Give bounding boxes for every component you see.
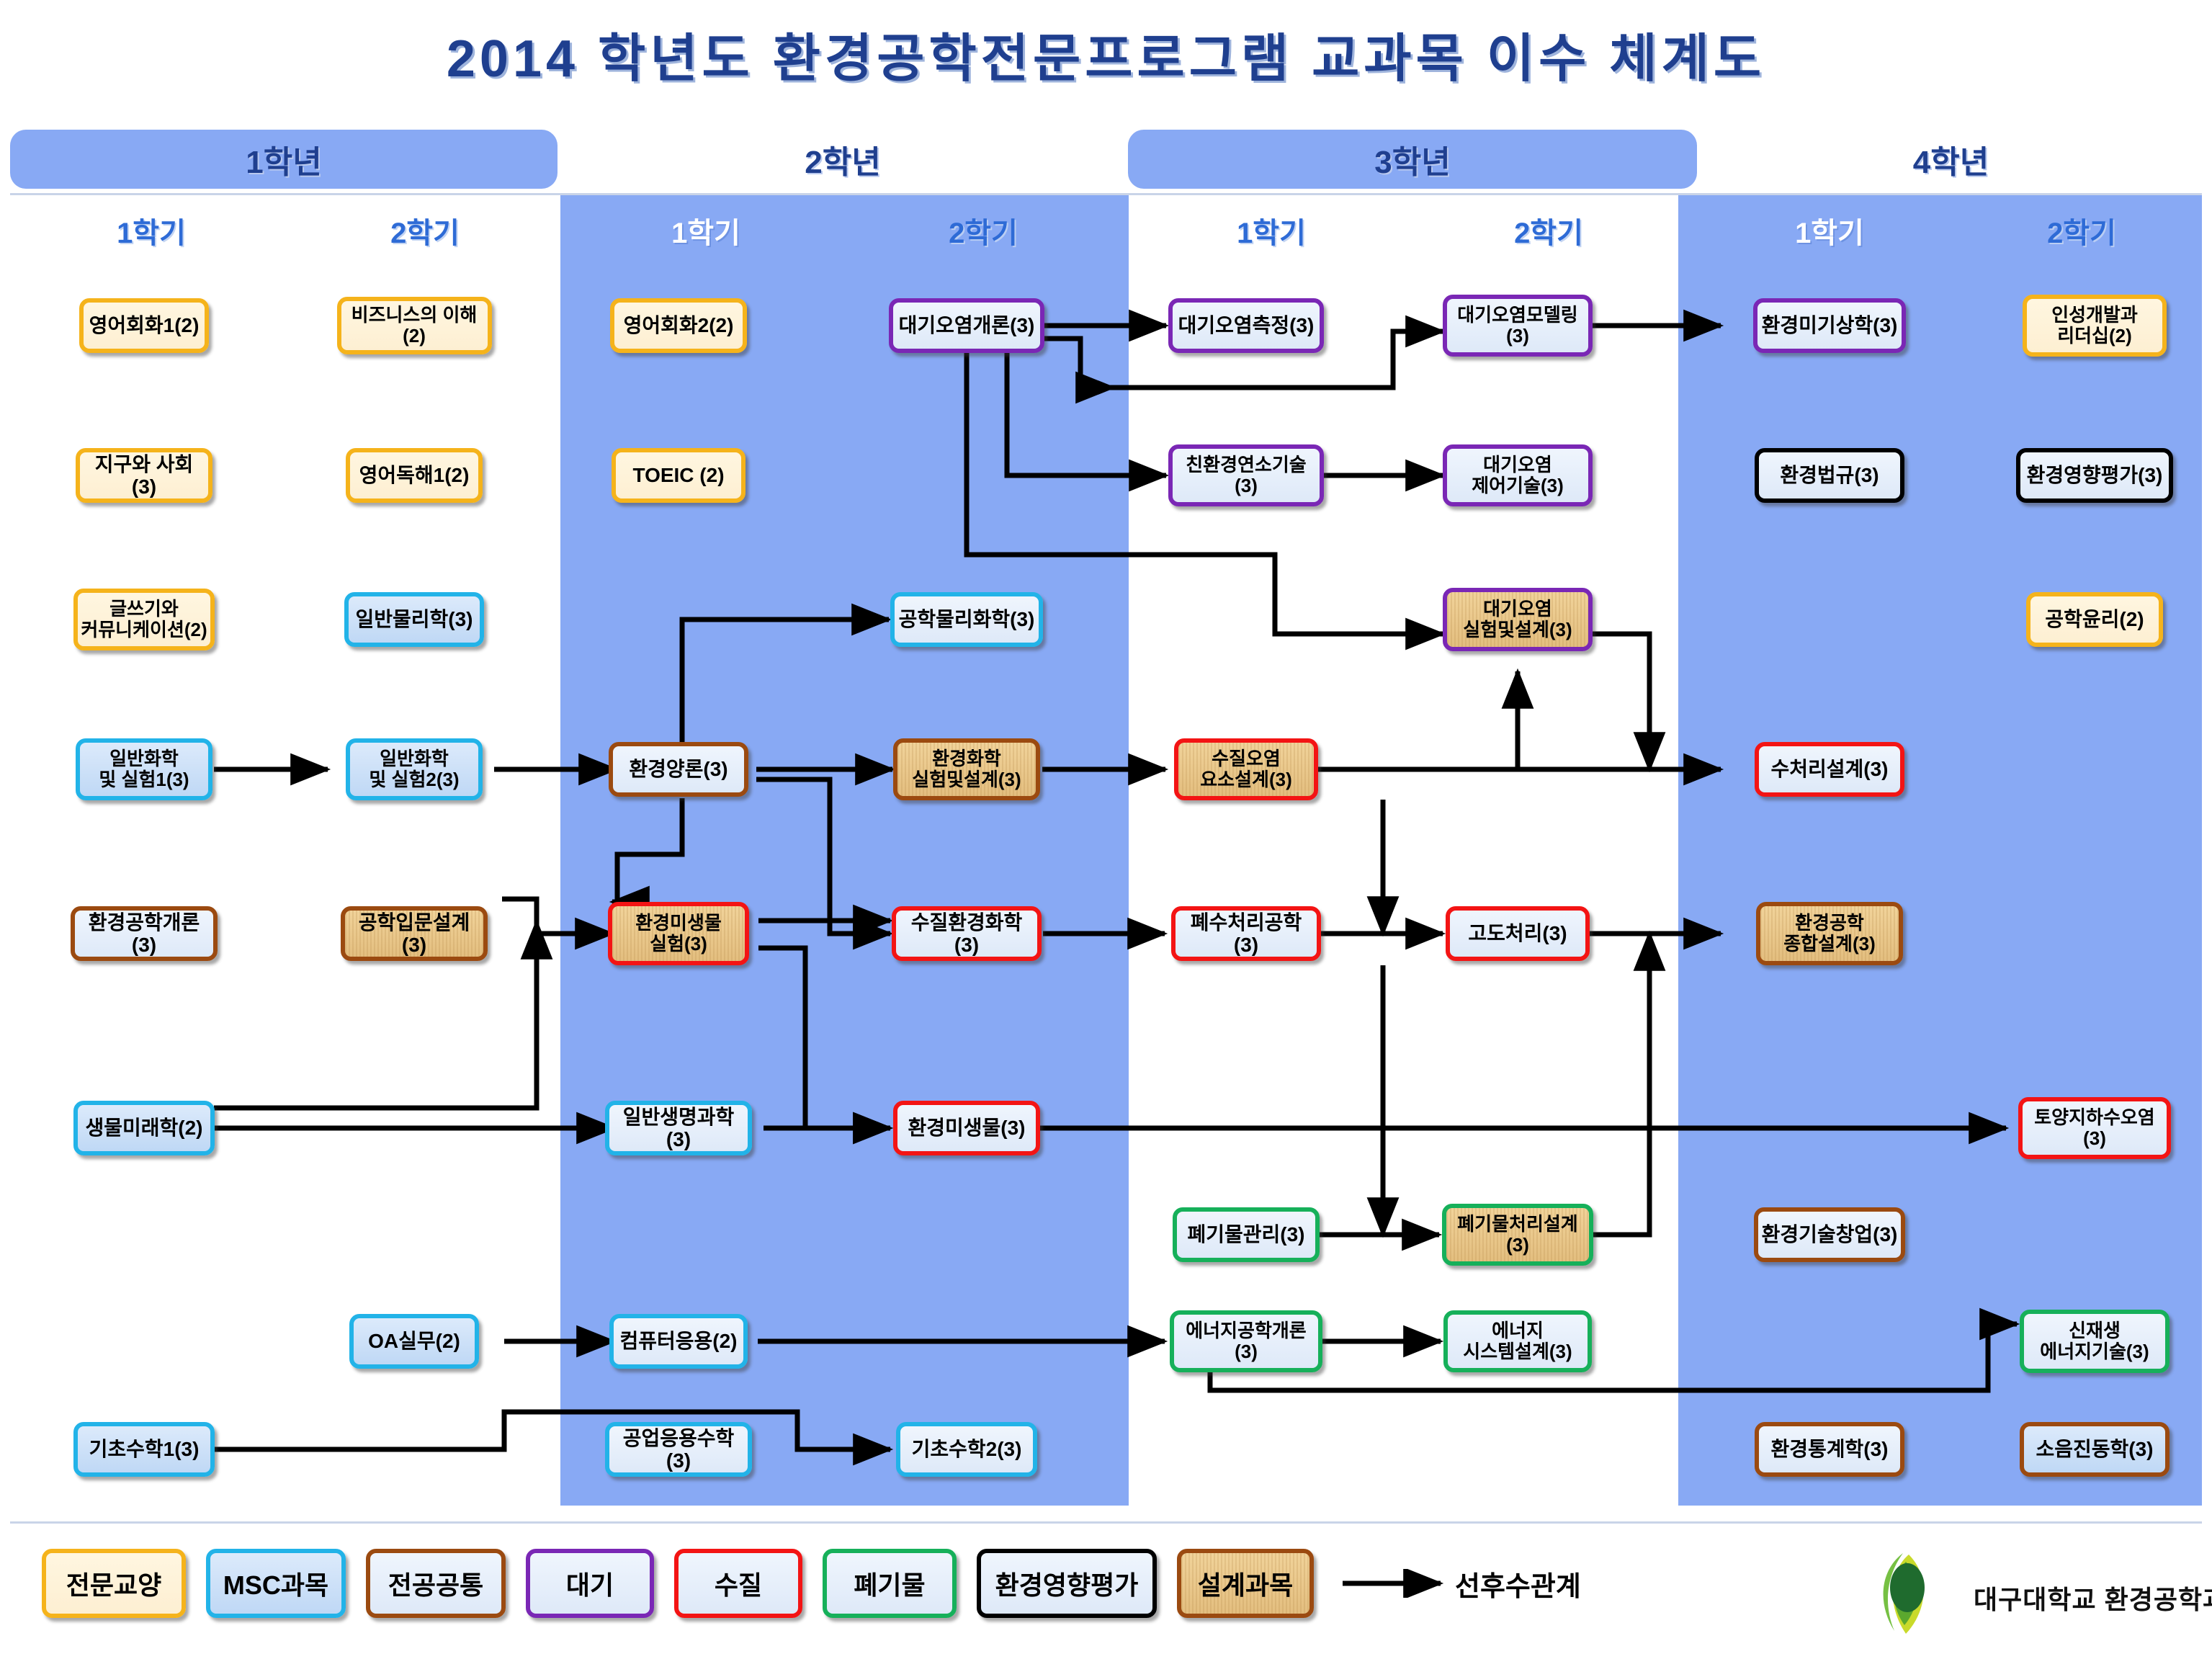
semester-label-4-2: 2학기 [1959, 209, 2204, 252]
course-node-envmicex[interactable]: 환경미생물 실험(3) [608, 902, 749, 965]
course-node-envquant[interactable]: 환경양론(3) [609, 742, 748, 797]
course-node-genchem2[interactable]: 일반화학 및 실험2(3) [346, 738, 483, 800]
course-node-engethic[interactable]: 공학윤리(2) [2026, 592, 2163, 647]
legend-item-7: 설계과목 [1177, 1549, 1314, 1618]
course-node-soilgw[interactable]: 토양지하수오염 (3) [2018, 1097, 2171, 1159]
course-node-airmodel[interactable]: 대기오염모델링 (3) [1443, 295, 1593, 357]
course-node-renew[interactable]: 신재생 에너지기술(3) [2020, 1310, 2170, 1373]
course-node-genbio[interactable]: 일반생명과학(3) [605, 1101, 752, 1155]
course-node-engread[interactable]: 영어독해1(2) [346, 448, 483, 503]
course-node-write[interactable]: 글쓰기와 커뮤니케이션(2) [73, 589, 215, 650]
semester-label-3-1: 1학기 [1134, 209, 1408, 252]
year-header-4: 4학년 [1700, 130, 2202, 189]
semester-label-3-2: 2학기 [1412, 209, 1685, 252]
legend-item-0: 전문교양 [42, 1549, 186, 1618]
course-node-wastewat[interactable]: 폐수처리공학(3) [1171, 906, 1321, 961]
course-node-airmeas[interactable]: 대기오염측정(3) [1168, 298, 1324, 353]
course-node-waterdes[interactable]: 수질오염 요소설계(3) [1174, 738, 1318, 800]
course-node-envchemd[interactable]: 환경화학 실험및설계(3) [893, 738, 1040, 800]
semester-label-4-1: 1학기 [1693, 209, 1966, 252]
course-node-envmicro[interactable]: 환경미생물(3) [893, 1101, 1040, 1155]
legend-item-1: MSC과목 [206, 1549, 346, 1618]
course-node-leader[interactable]: 인성개발과 리더십(2) [2023, 295, 2167, 357]
legend-item-2: 전공공통 [366, 1549, 506, 1618]
year2-panel [560, 194, 1129, 1506]
course-node-genphys[interactable]: 일반물리학(3) [344, 592, 484, 647]
course-node-capstone[interactable]: 환경공학 종합설계(3) [1756, 902, 1903, 965]
course-node-eng1[interactable]: 영어회화1(2) [79, 298, 209, 353]
course-node-noise[interactable]: 소음진동학(3) [2020, 1422, 2170, 1477]
legend-divider [10, 1521, 2202, 1524]
course-node-envintro[interactable]: 환경공학개론(3) [71, 906, 218, 961]
course-node-biofut[interactable]: 생물미래학(2) [73, 1101, 215, 1155]
legend-item-4: 수질 [674, 1549, 802, 1618]
course-node-airdesign[interactable]: 대기오염 실험및설계(3) [1443, 588, 1593, 651]
semester-label-2-2: 2학기 [846, 209, 1120, 252]
course-node-waterchm[interactable]: 수질환경화학(3) [892, 906, 1042, 961]
header-divider [10, 193, 2202, 195]
year-header-2: 2학년 [569, 130, 1116, 189]
year4-panel [1678, 194, 2202, 1506]
course-node-biz[interactable]: 비즈니스의 이해 (2) [337, 297, 492, 354]
course-node-eng2c[interactable]: 영어회화2(2) [610, 298, 747, 353]
course-node-indmath[interactable]: 공업응용수학(3) [605, 1422, 752, 1477]
course-node-advtreat[interactable]: 고도처리(3) [1446, 906, 1590, 961]
course-node-math1[interactable]: 기초수학1(3) [73, 1422, 215, 1477]
year-header-3: 3학년 [1128, 130, 1697, 189]
course-node-comp[interactable]: 컴퓨터응용(2) [609, 1314, 748, 1369]
legend-arrow-label: 선후수관계 [1455, 1564, 1581, 1604]
course-node-earth[interactable]: 지구와 사회(3) [76, 448, 212, 503]
course-node-wastedes[interactable]: 폐기물처리설계 (3) [1442, 1204, 1593, 1266]
course-node-toeic[interactable]: TOEIC (2) [612, 448, 745, 503]
course-node-envlaw[interactable]: 환경법규(3) [1755, 448, 1904, 503]
university-logo [1858, 1550, 1959, 1637]
course-node-eia4[interactable]: 환경영향평가(3) [2016, 448, 2173, 503]
course-node-wastemgt[interactable]: 폐기물관리(3) [1173, 1207, 1320, 1262]
year-header-1: 1학년 [10, 130, 558, 189]
semester-label-1-1: 1학기 [14, 209, 288, 252]
course-node-micromet[interactable]: 환경미기상학(3) [1753, 298, 1906, 353]
arrow-icon [1340, 1569, 1448, 1598]
course-node-envstat[interactable]: 환경통계학(3) [1755, 1422, 1904, 1477]
semester-label-2-1: 1학기 [569, 209, 843, 252]
course-node-energysy[interactable]: 에너지 시스템설계(3) [1443, 1310, 1592, 1372]
course-node-energyin[interactable]: 에너지공학개론 (3) [1170, 1310, 1322, 1372]
course-node-oa[interactable]: OA실무(2) [349, 1314, 479, 1369]
page-title: 2014 학년도 환경공학전문프로그램 교과목 이수 체계도 [0, 16, 2212, 91]
course-node-genchem1[interactable]: 일반화학 및 실험1(3) [76, 738, 212, 800]
course-node-airctrl[interactable]: 대기오염 제어기술(3) [1443, 444, 1593, 506]
org-name: 대구대학교 환경공학과 [1974, 1579, 2212, 1616]
legend-arrow: 선후수관계 [1340, 1569, 1581, 1598]
course-node-airintro[interactable]: 대기오염개론(3) [889, 298, 1044, 353]
legend-item-3: 대기 [526, 1549, 654, 1618]
course-node-engpchem[interactable]: 공학물리화학(3) [890, 592, 1043, 647]
course-node-math2[interactable]: 기초수학2(3) [896, 1422, 1037, 1477]
course-node-combust[interactable]: 친환경연소기술 (3) [1168, 444, 1324, 506]
course-node-watertrt[interactable]: 수처리설계(3) [1755, 742, 1904, 797]
semester-label-1-2: 2학기 [288, 209, 562, 252]
legend-item-5: 폐기물 [823, 1549, 957, 1618]
course-node-envstart[interactable]: 환경기술창업(3) [1754, 1207, 1905, 1262]
course-node-introdes[interactable]: 공학입문설계(3) [341, 906, 488, 961]
legend-item-6: 환경영향평가 [977, 1549, 1157, 1618]
